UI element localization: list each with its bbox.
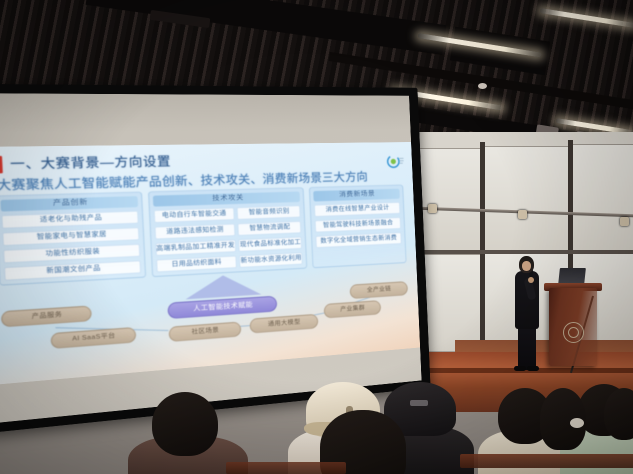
presenter-legs — [518, 326, 536, 370]
flow-pill: 全产业链 — [350, 281, 408, 299]
center-badge: 人工智能技术赋能 — [167, 296, 277, 319]
flow-pill: 产业集群 — [324, 300, 382, 318]
screen-surface: 一、大赛背景—方向设置 大赛聚焦人工智能赋能产品创新、技术攻关、消费新场景三大方… — [0, 93, 422, 423]
cell-item: 新功能水资源化利用 — [239, 252, 303, 268]
attendee-head — [604, 388, 633, 440]
presenter-face — [522, 261, 531, 271]
tech-subcol-left: 电动自行车智能交通 道路违法感知检测 高端乳制品加工精准开发 日用品纺织面料 — [153, 207, 237, 273]
handrail-bracket-2 — [518, 210, 527, 219]
slide-title-row: 一、大赛背景—方向设置 — [0, 152, 171, 173]
column-header: 产品创新 — [0, 196, 137, 211]
presenter-shoe-left — [514, 366, 526, 371]
handrail-bracket-1 — [428, 204, 437, 213]
flow-pill: 社区场景 — [168, 321, 241, 342]
cell-item: 日用品纺织面料 — [155, 255, 237, 273]
up-arrow-icon — [185, 273, 262, 299]
tech-subgrid: 电动自行车智能交通 道路违法感知检测 高端乳制品加工精准开发 日用品纺织面料 智… — [153, 205, 303, 273]
seat-back-row — [460, 454, 633, 468]
cell-item: 道路违法感知检测 — [154, 223, 236, 240]
cell-item: 新国潮文创产品 — [4, 260, 141, 281]
flow-pill: 产品服务 — [1, 305, 92, 327]
cell-item: 现代食品标准化加工 — [238, 236, 302, 252]
flow-pill: AI SaaS平台 — [50, 327, 136, 349]
cell-item: 适老化与助残产品 — [1, 210, 138, 229]
column-header: 消费新场景 — [313, 189, 399, 202]
smoke-detector-icon — [478, 83, 487, 89]
audience-attendee-7 — [530, 388, 594, 458]
title-accent-bar — [0, 155, 3, 172]
presenter — [512, 256, 542, 372]
presenter-shoe-right — [527, 366, 539, 371]
flow-pill: 通用大模型 — [249, 314, 318, 334]
slide-title: 一、大赛背景—方向设置 — [10, 152, 172, 173]
seat-back-left — [226, 462, 346, 474]
glass-panel-3 — [572, 144, 633, 254]
wooden-lectern — [549, 288, 597, 366]
cell-item: 高端乳制品加工精准开发 — [155, 239, 237, 256]
presentation-slide: 一、大赛背景—方向设置 大赛聚焦人工智能赋能产品创新、技术攻关、消费新场景三大方… — [0, 142, 420, 385]
attendee-head — [152, 392, 218, 456]
cell-item: 智能音频识别 — [237, 205, 301, 220]
university-crest-icon — [563, 322, 584, 343]
organization-logo-icon — [385, 152, 405, 172]
cell-item: 智能家电与智慧家居 — [2, 227, 139, 247]
strip-light-4 — [540, 8, 633, 28]
wall-rail-mid — [392, 250, 633, 254]
hair-tie-icon — [570, 418, 584, 428]
cell-item: 智能驾驶科技新场景融合 — [315, 216, 401, 232]
glass-panel-2 — [484, 146, 572, 254]
cell-item: 电动自行车智能交通 — [153, 207, 235, 223]
audience-attendee-8 — [604, 388, 633, 450]
column-product-innovation: 产品创新 适老化与助残产品 智能家电与智慧家居 功能性纺织服装 新国潮文创产品 — [0, 192, 146, 286]
column-consumption-scenario: 消费新场景 消费在线智慧产业设计 智能驾驶科技新场景融合 数字化全域营销生态新消… — [309, 185, 407, 269]
tech-subcol-right: 智能音频识别 智慧物流调配 现代食品标准化加工 新功能水资源化利用 — [237, 205, 303, 269]
cell-item: 智慧物流调配 — [238, 220, 302, 236]
column-technology: 技术攻关 电动自行车智能交通 道路违法感知检测 高端乳制品加工精准开发 日用品纺… — [148, 187, 308, 277]
handrail-bracket-3 — [620, 217, 629, 226]
ceiling-recess-left — [86, 0, 447, 55]
cell-item: 消费在线智慧产业设计 — [314, 201, 401, 217]
wall-mullion-1 — [480, 142, 485, 354]
photo-scene: 一、大赛背景—方向设置 大赛聚焦人工智能赋能产品创新、技术攻关、消费新场景三大方… — [0, 0, 633, 474]
presenter-hand — [528, 277, 534, 283]
cell-item: 数字化全域营销生态新消费 — [315, 231, 401, 248]
